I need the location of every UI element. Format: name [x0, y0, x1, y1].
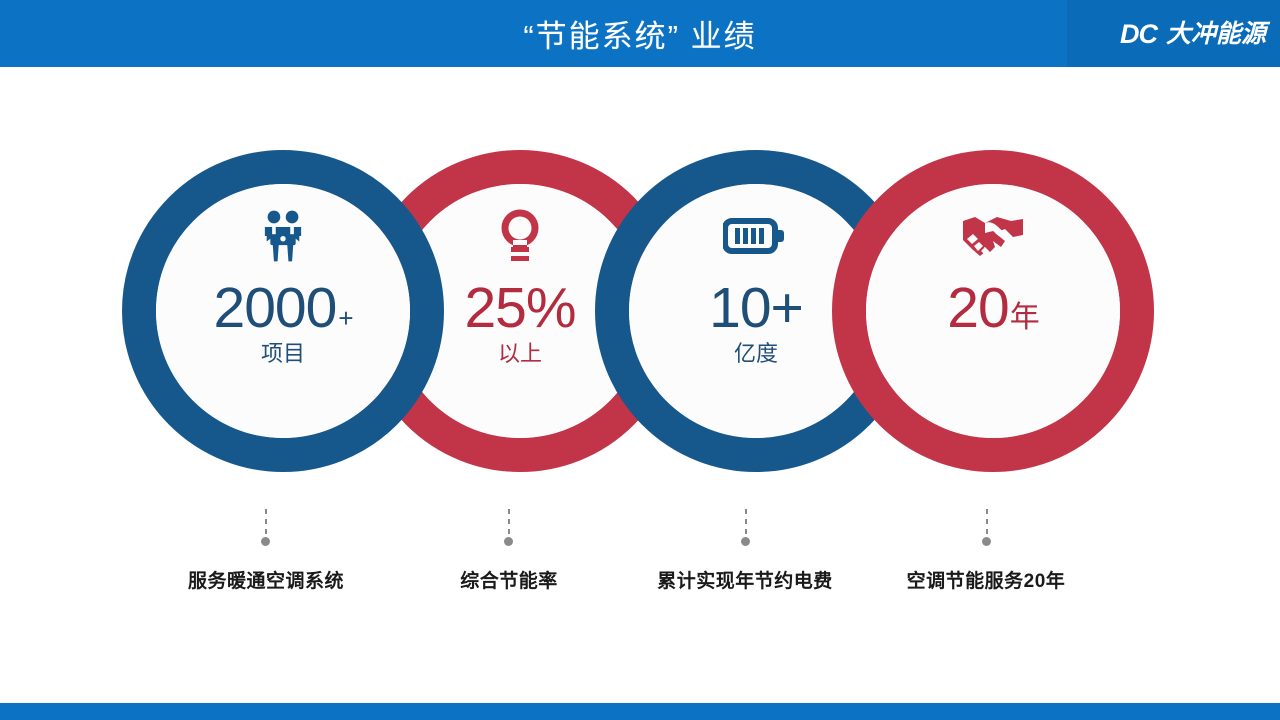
caption-4: 空调节能服务20年	[866, 566, 1106, 593]
metric-card-4[interactable]: 20 年	[866, 184, 1120, 438]
metric-suffix-2: %	[526, 280, 576, 337]
metric-number-4: 20	[947, 280, 1008, 337]
metric-card-2[interactable]: 25 % 以上	[393, 184, 647, 438]
caption-2: 综合节能率	[419, 566, 599, 593]
connector-line-2	[508, 509, 510, 535]
two-people-icon	[254, 200, 312, 272]
lightbulb-icon	[494, 200, 546, 272]
connector-line-1	[265, 509, 267, 535]
metric-suffix-1: +	[338, 305, 352, 331]
metric-value-2: 25 %	[464, 280, 575, 337]
logo-mark-dc: DC	[1120, 21, 1157, 48]
metric-number-2: 25	[464, 280, 525, 337]
metric-value-3: 10 +	[709, 280, 803, 337]
connector-line-4	[986, 509, 988, 535]
metric-number-3: 10	[709, 280, 770, 337]
metric-unit-2: 以上	[498, 343, 542, 365]
handshake-icon	[961, 200, 1025, 272]
metric-unit-1: 项目	[261, 343, 305, 365]
metric-number-1: 2000	[214, 280, 337, 337]
connector-dot-4	[982, 537, 991, 546]
metric-value-4: 20 年	[947, 280, 1038, 337]
metric-suffix-3: +	[771, 280, 803, 337]
caption-3: 累计实现年节约电费	[625, 566, 865, 593]
caption-1: 服务暖通空调系统	[146, 566, 386, 593]
battery-icon	[723, 200, 789, 272]
brand-logo: DC 大冲能源	[1120, 17, 1266, 51]
metric-value-1: 2000 +	[214, 280, 353, 337]
slide-canvas: “节能系统” 业绩 DC 大冲能源	[0, 0, 1280, 720]
metric-card-1[interactable]: 2000 + 项目	[156, 184, 410, 438]
logo-text-cn: 大冲能源	[1166, 22, 1266, 47]
rings-group: 2000 + 项目 25 % 以	[0, 150, 1280, 500]
metric-unit-3: 亿度	[734, 343, 778, 365]
page-title: “节能系统” 业绩	[0, 0, 1280, 67]
connector-dot-2	[504, 537, 513, 546]
connector-line-3	[745, 509, 747, 535]
connector-dot-3	[741, 537, 750, 546]
metric-card-3[interactable]: 10 + 亿度	[629, 184, 883, 438]
metric-suffix-4: 年	[1010, 303, 1039, 333]
footer-bar	[0, 703, 1280, 720]
connector-dot-1	[261, 537, 270, 546]
header-bar: “节能系统” 业绩 DC 大冲能源	[0, 0, 1280, 67]
